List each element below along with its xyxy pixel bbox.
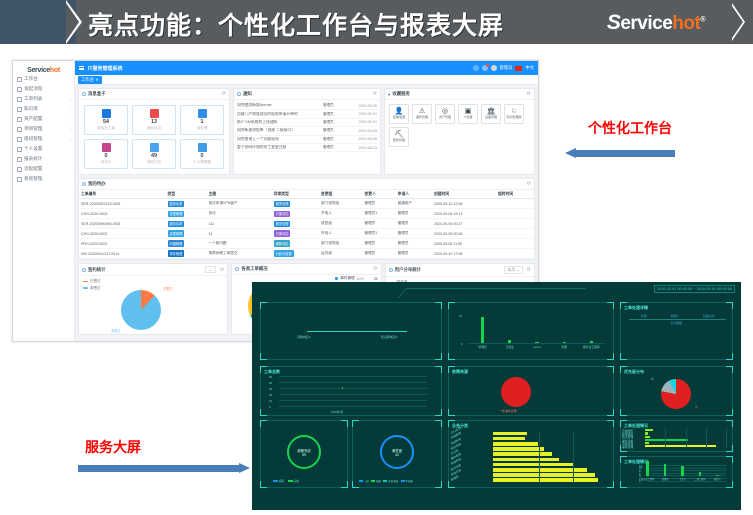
table-row[interactable]: CHG-2020-0002变更管理11方案评估开电人管理员1管理员2020-09… xyxy=(79,229,534,239)
table-row[interactable]: SER-20200910123-0001服务请求测试申请VPN客户服务处理部门领… xyxy=(79,199,534,209)
status-badge: 服务处理 xyxy=(274,201,291,207)
gauge-a-value: 59 xyxy=(302,453,306,457)
sidebar-item-icon xyxy=(17,127,22,132)
panel-inbox-title: 消息盒子 xyxy=(88,91,106,97)
date-range-chip: 2020-02-01 00:00:00 ~ 2020-09-01 00:00:0… xyxy=(654,285,735,293)
refresh-icon[interactable]: ⟳ xyxy=(527,91,531,97)
priority-pie xyxy=(661,379,691,409)
sidebar-item-9[interactable]: 流程配置 xyxy=(13,164,74,174)
panel-favorites-header: ♥ 收藏服务 ⟳ xyxy=(385,89,534,100)
bar xyxy=(493,463,573,467)
panel-notice-header: 通知 ⟳ xyxy=(234,89,380,100)
table-body: SER-20200910123-0001服务请求测试申请VPN客户服务处理部门领… xyxy=(79,199,534,259)
sidebar-item-3[interactable]: 知识库‹ xyxy=(13,104,74,114)
detail-empty-text: 暂无数据 xyxy=(621,321,732,325)
favorite-warning-icon[interactable]: ⚠事件管理 xyxy=(412,104,432,124)
tab-workbench[interactable]: 工作台 ✕ xyxy=(78,76,102,84)
axis-tick-label: 王先生 xyxy=(674,477,691,481)
inbox-card-label: 个人草稿箱 xyxy=(193,160,211,165)
legend-label: 一般 xyxy=(364,480,369,483)
table-cell: SER-20200900900-0001 xyxy=(79,219,166,229)
header-chevron-left-fill xyxy=(66,3,79,41)
sidebar-item-icon xyxy=(17,147,22,152)
table-cell: 2020-09-06 11:50 xyxy=(432,239,496,249)
bi-panel-priority-title: 优先级分布 xyxy=(624,369,644,375)
chevron-icon: ‹ xyxy=(70,107,71,112)
exception-badge-cell: 方案评估 xyxy=(272,209,319,219)
count-gridlines: 50403020100 xyxy=(269,376,427,407)
table-cell: PRO-2020-0003 xyxy=(79,239,166,249)
sidebar-item-8[interactable]: 报表统计 xyxy=(13,154,74,164)
logo-s: S xyxy=(607,11,621,34)
task-done-icon xyxy=(150,143,159,152)
sidebar-item-icon xyxy=(17,77,22,82)
sidebar-item-0[interactable]: 工作台 xyxy=(13,74,74,84)
sidebar-item-2[interactable]: 工单列表‹ xyxy=(13,94,74,104)
bi-panel-priority: 优先级分布 中 高 xyxy=(620,366,733,416)
favorite-bank-icon[interactable]: 🏛设备管理 xyxy=(481,104,501,124)
status-badge: 事件管理 xyxy=(168,250,185,256)
bi-panel-count: 工单总数 50403020100 2020年9月 xyxy=(260,366,442,416)
slide-header: 亮点功能：个性化工作台与报表大屏 Servicehot® xyxy=(0,0,753,44)
column-header[interactable]: 类型 xyxy=(166,190,207,199)
column-header[interactable]: 异常类型 xyxy=(272,190,319,199)
panel-contract-title: 签约统计 xyxy=(88,267,106,273)
axis-tick-label: 管理 xyxy=(551,345,578,349)
page-title: 亮点功能：个性化工作台与报表大屏 xyxy=(88,6,504,42)
column-header[interactable]: 申请人 xyxy=(396,190,432,199)
table-cell: 管理员 xyxy=(396,229,432,239)
status-badge: 服务处理 xyxy=(274,221,291,227)
notice-text: 自建门户和管理员的权限申请开单的 xyxy=(237,112,323,117)
bar xyxy=(493,458,559,462)
sidebar-item-icon xyxy=(17,97,22,102)
table-cell: 管理员 xyxy=(396,249,432,259)
bi-panel-classify: 业务分类 办公应用网络故障系统账号邮件系统打印机硬件故障权限申请软件安装其他咨询… xyxy=(448,420,614,488)
language-label[interactable]: 中文 xyxy=(525,65,534,71)
sidebar-item-label: 项目管理 xyxy=(24,126,42,132)
gauge-b-legend: 一般 满意 非常满意 不满意 xyxy=(359,479,413,483)
bar xyxy=(645,442,649,444)
favorite-target-icon[interactable]: ◎资产管理 xyxy=(435,104,455,124)
dashboard-row-1: 消息盒子 ⟳ 54我待办工单13我的待办1待处理0待评价49我的已办0个人草稿箱… xyxy=(75,85,538,178)
notice-date: 2019-08-23 xyxy=(345,146,377,150)
inbox-card-4[interactable]: 49我的已办 xyxy=(132,139,176,169)
notice-author: 管理员 xyxy=(323,128,345,133)
period-select[interactable]: 本月 ⌄ xyxy=(504,266,522,274)
annotation-bigscreen-arrow xyxy=(78,463,250,474)
notice-date: 2019-09-01 xyxy=(345,120,377,124)
list-icon xyxy=(102,143,111,152)
axis-tick-label: 服务台工程师 xyxy=(639,477,656,481)
table-cell: 2020-09-08 15:13 xyxy=(432,209,496,219)
refresh-icon[interactable]: ⟳ xyxy=(527,267,531,273)
pending-table: 工单编号类型主题异常类型变更组变更人申请人创建时间超时时间 SER-202009… xyxy=(79,190,534,259)
table-row[interactable]: SER-20200900900-0001服务请求111服务处理成型组管理员管理员… xyxy=(79,219,534,229)
bar xyxy=(481,317,484,343)
category-label: 事件管理 xyxy=(622,445,633,449)
menu-collapse-icon[interactable] xyxy=(79,66,84,71)
panel-ticket-header: 各类工单概况 ⟳ xyxy=(232,264,380,275)
favorite-box-icon[interactable]: ▣IT管理 xyxy=(458,104,478,124)
gear-icon[interactable] xyxy=(473,65,479,71)
status-badge: 方案评估 xyxy=(274,211,291,217)
gauge-a-legend: 超期 完成 xyxy=(273,479,299,483)
type-badge-cell: 变更管理 xyxy=(166,209,207,219)
bar xyxy=(493,437,525,441)
inbox-card-value: 13 xyxy=(151,119,157,125)
table-cell: 管理员 xyxy=(362,249,395,259)
type-badge-cell: 问题管理 xyxy=(166,239,207,249)
panel-pending-title: 我的待办 xyxy=(88,181,106,187)
table-cell: 2020-09-10 17:08 xyxy=(432,249,496,259)
annotation-bigscreen-label: 服务大屏 xyxy=(85,437,141,457)
bi-panel-gauge-b: 满意度 40 一般 满意 非常满意 不满意 xyxy=(352,420,442,488)
sidebar-item-icon xyxy=(17,157,22,162)
table-cell: 部门领导组 xyxy=(319,239,362,249)
notice-date: 2019-09-01 xyxy=(345,112,377,116)
inbox-card-2[interactable]: 1待处理 xyxy=(180,105,224,135)
sidebar-item-label: 报表统计 xyxy=(24,156,42,162)
table-cell xyxy=(496,199,534,209)
legend-percent: 60% xyxy=(357,277,368,281)
app-tabbar: 工作台 ✕ xyxy=(75,75,538,85)
logo-hot: hot xyxy=(672,13,700,34)
table-cell: 111 xyxy=(207,219,272,229)
sidebar-item-icon xyxy=(17,107,22,112)
bar xyxy=(493,442,538,446)
sla-bars: 咨询服务处理进度知识管理事件请求问题管理事件管理 xyxy=(645,429,726,448)
notice-row[interactable]: 如何使用新版license管理员2019-09-05 xyxy=(237,102,377,110)
legend-item: 事件管理60%35 xyxy=(335,276,377,281)
panel-pending-header: 我的待办 ⟳ xyxy=(79,179,534,190)
refresh-icon[interactable]: ⟳ xyxy=(373,91,377,97)
type-badge-cell: 事件管理 xyxy=(166,249,207,259)
chevron-icon: ‹ xyxy=(70,117,71,122)
sidebar-item-label: 知识库 xyxy=(24,106,38,112)
refresh-icon[interactable]: ⟳ xyxy=(373,266,377,272)
panel-contract-header: 签约统计 ⌄ ⟳ xyxy=(79,264,227,276)
notice-text: 如何查询上一个问题现场 xyxy=(237,137,323,142)
axis-tick-label: 40 xyxy=(269,381,272,385)
table-row[interactable]: CHG-2020-0003变更管理测试方案评估开电人管理员1管理员2020-09… xyxy=(79,209,534,219)
gridline xyxy=(539,431,540,483)
close-icon[interactable]: ✕ xyxy=(95,77,98,82)
bar xyxy=(493,432,527,436)
bar xyxy=(646,461,649,476)
inbox-card-1[interactable]: 13我的待办 xyxy=(132,105,176,135)
legend-label: 事件管理 xyxy=(340,276,354,281)
pie-label-signed: 已签订 xyxy=(163,286,173,291)
axis-line xyxy=(469,343,605,344)
notice-text: 新IT SM系统的上线通知 xyxy=(237,120,323,125)
chevron-icon: ‹ xyxy=(70,97,71,102)
legend-label: 已签订 xyxy=(90,279,101,284)
axis-tick-label: 服务台工程师 xyxy=(578,345,605,349)
bar xyxy=(645,432,648,434)
sidebar-item-5[interactable]: 项目管理‹ xyxy=(13,124,74,134)
notice-text: 重子密码环境的密工变更注意 xyxy=(237,145,323,150)
table-cell: 2020-09-05 00:26 xyxy=(432,229,496,239)
sidebar-logo-hot: hot xyxy=(50,67,60,74)
notice-row[interactable]: 如何新建流程单（创建 二级接口）管理员2019-09-05 xyxy=(237,127,377,135)
table-cell xyxy=(496,239,534,249)
gauge-b-value: 40 xyxy=(395,453,399,457)
notice-row[interactable]: 重子密码环境的密工变更注意管理员2019-08-23 xyxy=(237,144,377,152)
table-cell: 成型组 xyxy=(319,219,362,229)
inbox-card-3[interactable]: 0待评价 xyxy=(84,139,128,169)
inbox-card-label: 待处理 xyxy=(197,126,208,131)
notice-author: 管理员 xyxy=(323,137,345,142)
column-header[interactable]: 变更人 xyxy=(362,190,395,199)
header-chevron-right-fill xyxy=(732,6,743,38)
table-cell: 开电人 xyxy=(319,229,362,239)
notice-text: 如何新建流程单（创建 二级接口） xyxy=(237,128,323,133)
notice-row[interactable]: 如何查询上一个问题现场管理员2019-09-06 xyxy=(237,136,377,144)
refresh-icon[interactable]: ⟳ xyxy=(220,267,224,273)
source-bar-chart: 管理员王先生server管理服务台工程师 xyxy=(469,313,605,349)
table-cell: 一个新问题 xyxy=(207,239,272,249)
logo-registered: ® xyxy=(700,17,705,24)
notification-bell-icon[interactable] xyxy=(482,65,488,71)
column-header[interactable]: 主题 xyxy=(207,190,272,199)
gridline xyxy=(279,400,427,401)
table-cell: 开电人 xyxy=(319,209,362,219)
panel-notice-title: 通知 xyxy=(243,91,252,97)
bar xyxy=(493,447,544,451)
panel-icon xyxy=(82,268,86,272)
panel-inbox-header: 消息盒子 ⟳ xyxy=(79,89,229,100)
notice-date: 2019-09-06 xyxy=(345,137,377,141)
table-cell: 管理员1 xyxy=(362,209,395,219)
sidebar-item-label: 个人设置 xyxy=(24,146,42,152)
legend-label: 非常满意 xyxy=(388,480,398,483)
gridline xyxy=(726,429,727,448)
bi-panel-detail-title: 工单处理详情 xyxy=(624,305,648,311)
table-cell: 2020-09-05 00:27 xyxy=(432,219,496,229)
axis-tick-label: 20 xyxy=(269,393,272,397)
bi-panel-monthly: 工单处理情况 121086420服务台工程师管理员王先生二线工程师服务台 xyxy=(620,456,733,488)
bar xyxy=(716,475,719,476)
legend-label: 超期 xyxy=(279,480,284,483)
bi-panel-sla: 工单处理情况 咨询服务处理进度知识管理事件请求问题管理事件管理 xyxy=(620,420,733,452)
file-plus-icon xyxy=(198,143,207,152)
axis-tick-label: 10 xyxy=(269,399,272,403)
sidebar-item-10[interactable]: 系统管理 xyxy=(13,174,74,184)
exception-badge-cell: 方案评估 xyxy=(272,229,319,239)
decor-line xyxy=(398,288,586,298)
period-select[interactable]: ⌄ xyxy=(205,266,217,273)
table-cell: 测试 xyxy=(207,209,272,219)
monthly-bars: 121086420服务台工程师管理员王先生二线工程师服务台 xyxy=(639,465,726,481)
panel-pending: 我的待办 ⟳ 工单编号类型主题异常类型变更组变更人申请人创建时间超时时间 SER… xyxy=(78,178,535,260)
notice-row[interactable]: 新IT SM系统的上线通知管理员2019-09-01 xyxy=(237,119,377,127)
bar xyxy=(664,464,667,477)
gauge-a-ring: 超期完成 59 xyxy=(287,435,321,469)
table-cell: INC-20200911317-0014 xyxy=(79,249,166,259)
inbox-card-5[interactable]: 0个人草稿箱 xyxy=(180,139,224,169)
panel-ticket-title: 各类工单概况 xyxy=(241,266,267,272)
avatar[interactable] xyxy=(491,65,497,71)
sidebar-item-label: 发起流程 xyxy=(24,86,42,92)
favorites-grid: 👤咨询/变更⚠事件管理◎资产管理▣IT管理🏛设备管理♘知识管理库⛏配件管理 xyxy=(385,100,534,151)
table-cell: 测试申请VPN客户 xyxy=(207,199,272,209)
priority-label-mid: 中 xyxy=(651,377,654,381)
column-header[interactable]: 超时时间 xyxy=(496,190,534,199)
sidebar-item-label: 流程配置 xyxy=(24,166,42,172)
bi-panel-source-bar: 管理员王先生server管理服务台工程师 10 0 xyxy=(448,302,614,360)
axis-x-label: 2020年9月 xyxy=(331,410,343,414)
column-header[interactable]: 变更组 xyxy=(319,190,362,199)
sidebar-item-7[interactable]: 个人设置 xyxy=(13,144,74,154)
table-row[interactable]: INC-20200911317-0014事件管理故障休眠工单提交分析与处理运内组… xyxy=(79,249,534,259)
inbox-card-value: 1 xyxy=(201,119,204,125)
panel-icon xyxy=(235,267,239,271)
legend-label: 满意 xyxy=(376,480,381,483)
bi-panel-gauge-a: 超期完成 59 超期 完成 xyxy=(260,420,348,488)
bar xyxy=(681,466,684,476)
sidebar-item-icon xyxy=(17,117,22,122)
column-header[interactable]: 创建时间 xyxy=(432,190,496,199)
contract-pie xyxy=(121,290,161,330)
table-cell xyxy=(496,249,534,259)
table-row[interactable]: PRO-2020-0003问题管理一个新问题故障评估部门领导组管理员管理员202… xyxy=(79,239,534,249)
panel-inbox: 消息盒子 ⟳ 54我待办工单13我的待办1待处理0待评价49我的已办0个人草稿箱 xyxy=(78,88,230,175)
gridline xyxy=(279,394,427,395)
status-badge: 故障评估 xyxy=(274,240,291,246)
table-cell: 2020-09-10 12:08 xyxy=(432,199,496,209)
notice-author: 管理员 xyxy=(323,103,345,108)
bar xyxy=(493,478,598,482)
sidebar-item-4[interactable]: 资产配置‹ xyxy=(13,114,74,124)
topbar-actions: 管理员 中文 xyxy=(473,65,534,71)
status-badge: 服务请求 xyxy=(168,221,185,227)
trend-line xyxy=(307,331,407,332)
favorite-label: 咨询/变更 xyxy=(393,116,406,119)
inbox-card-label: 我的待办 xyxy=(147,126,161,131)
sidebar-item-icon xyxy=(17,177,22,182)
panel-icon xyxy=(82,92,86,96)
bar xyxy=(645,436,650,438)
panel-user-title: 用户分布统计 xyxy=(395,267,421,273)
notice-author: 管理员 xyxy=(323,145,345,150)
sidebar-item-label: 值班管理 xyxy=(24,136,42,142)
inbox-card-value: 0 xyxy=(201,153,204,159)
legend-item: 已签订 xyxy=(83,279,223,284)
status-badge: 分析与处理 xyxy=(274,250,294,256)
chevron-icon: ‹ xyxy=(70,137,71,142)
sidebar-item-icon xyxy=(17,137,22,142)
gridline xyxy=(279,388,427,389)
sidebar-item-icon xyxy=(17,87,22,92)
bi-panel-trend: 问题响应/h 知识库响应/h xyxy=(260,302,442,360)
gridline xyxy=(706,429,707,448)
notice-author: 管理员 xyxy=(323,112,345,117)
header-left-block xyxy=(0,0,76,44)
sidebar-item-1[interactable]: 发起流程 xyxy=(13,84,74,94)
favorite-user-question-icon[interactable]: 👤咨询/变更 xyxy=(389,104,409,124)
data-point xyxy=(342,387,344,389)
table-cell: 普通用户 xyxy=(396,199,432,209)
panel-icon xyxy=(389,268,393,272)
table-cell: 管理员 xyxy=(396,219,432,229)
legend-label: 完成 xyxy=(294,480,299,483)
status-badge: 变更管理 xyxy=(168,230,185,236)
refresh-icon[interactable]: ⟳ xyxy=(222,91,226,97)
period-select-value: 本月 xyxy=(507,267,515,272)
priority-label-high: 高 xyxy=(695,405,698,409)
table-cell: CHG-2020-0002 xyxy=(79,229,166,239)
fault-pie xyxy=(501,377,531,407)
notice-row[interactable]: 自建门户和管理员的权限申请开单的管理员2019-09-01 xyxy=(237,110,377,118)
flag-icon xyxy=(515,66,522,71)
sidebar-logo: Servicehot xyxy=(13,61,74,74)
axis-tick-label: 50 xyxy=(269,375,272,379)
servicehot-logo: Servicehot® xyxy=(607,11,705,35)
notice-text: 如何使用新版license xyxy=(237,103,323,108)
bar xyxy=(645,429,653,431)
legend-value: 35 xyxy=(370,277,378,281)
col-title: 标题 xyxy=(641,314,647,318)
bar xyxy=(493,473,595,477)
table-cell xyxy=(496,229,534,239)
chevron-icon: ‹ xyxy=(70,127,71,132)
table-cell: 管理员 xyxy=(362,199,395,209)
table-cell: 故障休眠工单提交 xyxy=(207,249,272,259)
bi-panel-detail: 工单处理详情 标题 处理人 创建时间 暂无数据 xyxy=(620,302,733,360)
pie-label-unsigned: 未签订 xyxy=(111,328,121,333)
inbox-card-label: 我的已办 xyxy=(147,160,161,165)
system-name: IT服务管理系统 xyxy=(88,65,122,72)
notice-date: 2019-09-05 xyxy=(345,104,377,108)
bigscreen-dashboard: 2020-02-01 00:00:00 ~ 2020-09-01 00:00:0… xyxy=(252,282,741,510)
refresh-icon[interactable]: ⟳ xyxy=(527,181,531,187)
type-badge-cell: 服务请求 xyxy=(166,199,207,209)
sidebar-item-icon xyxy=(17,167,22,172)
contract-legend: 已签订 未签订 xyxy=(79,276,227,295)
logo-mid: ervice xyxy=(620,13,672,34)
inbox-card-value: 54 xyxy=(103,119,109,125)
table-cell: 管理员 xyxy=(362,219,395,229)
table-cell xyxy=(496,209,534,219)
bar xyxy=(699,472,702,476)
bar xyxy=(645,439,688,441)
sidebar-item-6[interactable]: 值班管理‹ xyxy=(13,134,74,144)
tab-workbench-label: 工作台 xyxy=(81,77,94,83)
table-cell: 11 xyxy=(207,229,272,239)
favorite-shield-icon[interactable]: ♘知识管理库 xyxy=(504,104,524,124)
axis-tick: 0 xyxy=(461,343,462,346)
gridline xyxy=(573,431,574,483)
inbox-card-0[interactable]: 54我待办工单 xyxy=(84,105,128,135)
panel-favorites: ♥ 收藏服务 ⟳ 👤咨询/变更⚠事件管理◎资产管理▣IT管理🏛设备管理♘知识管理… xyxy=(384,88,535,175)
favorite-tools-icon[interactable]: ⛏配件管理 xyxy=(389,127,409,147)
classify-bars: 办公应用网络故障系统账号邮件系统打印机硬件故障权限申请软件安装其他咨询数据库 xyxy=(493,431,607,483)
table-cell: 管理员 xyxy=(362,239,395,249)
favorite-label: 配件管理 xyxy=(393,139,405,142)
gridline xyxy=(279,382,427,383)
notice-author: 管理员 xyxy=(323,120,345,125)
axis-tick-label: 30 xyxy=(269,387,272,391)
column-header[interactable]: 工单编号 xyxy=(79,190,166,199)
legend-label: 不满意 xyxy=(405,480,413,483)
panel-icon xyxy=(237,92,241,96)
exception-badge-cell: 服务处理 xyxy=(272,199,319,209)
table-cell: 管理员1 xyxy=(362,229,395,239)
sidebar-item-label: 资产配置 xyxy=(24,116,42,122)
bar xyxy=(493,452,552,456)
check-square-icon xyxy=(102,109,111,118)
